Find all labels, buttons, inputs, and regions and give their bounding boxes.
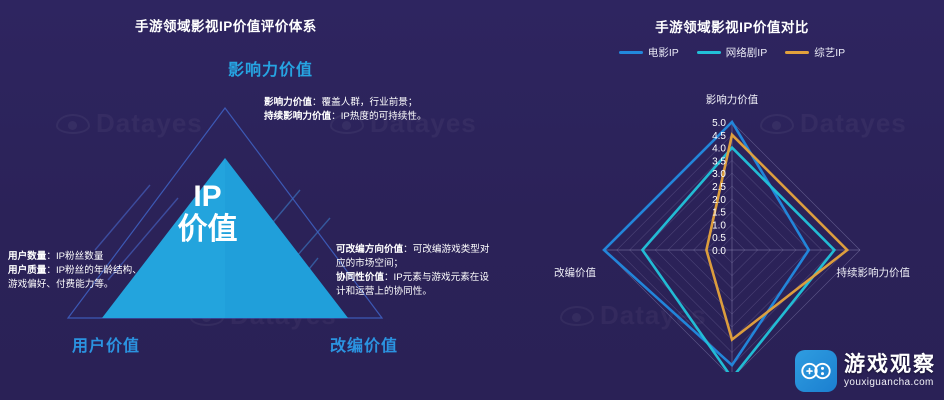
left-panel: 手游领域影视IP价值评价体系 IP 价值 xyxy=(0,0,520,400)
radial-tick-3.0: 3.0 xyxy=(712,169,726,180)
desc-text: ：IP粉丝数量 xyxy=(46,251,103,262)
radial-tick-4.0: 4.0 xyxy=(712,144,726,155)
description-line: 用户质量：IP粉丝的年龄结构、游戏偏好、付费能力等。 xyxy=(8,264,148,292)
description-influence: 影响力价值：覆盖人群，行业前景； 持续影响力价值：IP热度的可持续性。 xyxy=(264,96,427,124)
pyramid-center-label: IP 价值 xyxy=(150,182,265,246)
chart-legend: 电影IP网络剧IP综艺IP xyxy=(520,45,944,60)
description-adaptation: 可改编方向价值：可改编游戏类型对应的市场空间； 协同性价值：IP元素与游戏元素在… xyxy=(336,243,496,299)
brand-name-en: youxiguancha.com xyxy=(844,378,936,388)
desc-label: 用户质量 xyxy=(8,265,46,276)
right-panel: 手游领域影视IP价值对比 电影IP网络剧IP综艺IP 5.04.54.03.53… xyxy=(520,0,944,400)
left-panel-title: 手游领域影视IP价值评价体系 xyxy=(135,15,317,35)
legend-swatch xyxy=(619,51,643,54)
desc-label: 影响力价值 xyxy=(264,97,312,108)
gamepad-glyph xyxy=(801,362,831,380)
radar-chart-svg: 5.04.54.03.53.02.52.01.51.00.50.0 xyxy=(560,72,904,372)
pyramid-center-line2: 价值 xyxy=(150,214,265,246)
description-user: 用户数量：IP粉丝数量 用户质量：IP粉丝的年龄结构、游戏偏好、付费能力等。 xyxy=(8,250,148,292)
axis-label-sustained-influence: 持续影响力价值 xyxy=(837,265,911,280)
infographic-canvas: Datayes Datayes Datayes Datayes Datayes … xyxy=(0,0,944,400)
radial-tick-1.5: 1.5 xyxy=(712,208,726,219)
legend-label: 综艺IP xyxy=(814,45,845,60)
description-line: 协同性价值：IP元素与游戏元素在设计和运营上的协同性。 xyxy=(336,271,496,299)
series-2-综艺IP xyxy=(706,135,847,340)
series-0-电影IP xyxy=(604,122,809,365)
brand-text: 游戏观察 youxiguancha.com xyxy=(844,354,936,388)
desc-label: 协同性价值 xyxy=(336,272,384,283)
legend-item-1[interactable]: 网络剧IP xyxy=(697,45,767,60)
radial-tick-2.5: 2.5 xyxy=(712,182,726,193)
desc-label: 持续影响力价值 xyxy=(264,111,331,122)
description-line: 用户数量：IP粉丝数量 xyxy=(8,250,148,264)
radar-chart: 5.04.54.03.53.02.52.01.51.00.50.0 影响力价值 … xyxy=(560,72,904,372)
legend-label: 电影IP xyxy=(648,45,679,60)
chart-title: 手游领域影视IP价值对比 xyxy=(520,16,944,36)
radial-tick-labels: 5.04.54.03.53.02.52.01.51.00.50.0 xyxy=(712,118,726,257)
radial-tick-0.0: 0.0 xyxy=(712,246,726,257)
desc-text: ：覆盖人群，行业前景； xyxy=(312,97,418,108)
radial-tick-1.0: 1.0 xyxy=(712,220,726,231)
label-adaptation-value: 改编价值 xyxy=(330,332,398,356)
legend-swatch xyxy=(785,51,809,54)
radial-tick-3.5: 3.5 xyxy=(712,156,726,167)
axis-label-influence: 影响力价值 xyxy=(706,92,759,107)
desc-label: 可改编方向价值 xyxy=(336,244,403,255)
pyramid-center-line1: IP xyxy=(150,182,265,212)
gamepad-icon xyxy=(795,350,837,392)
legend-label: 网络剧IP xyxy=(726,45,767,60)
radial-tick-4.5: 4.5 xyxy=(712,131,726,142)
legend-item-0[interactable]: 电影IP xyxy=(619,45,679,60)
label-user-value: 用户价值 xyxy=(72,332,140,356)
description-line: 持续影响力价值：IP热度的可持续性。 xyxy=(264,110,427,124)
description-line: 影响力价值：覆盖人群，行业前景； xyxy=(264,96,427,110)
desc-text: ：IP热度的可持续性。 xyxy=(331,111,426,122)
brand-name-cn: 游戏观察 xyxy=(844,354,936,375)
brand-logo: 游戏观察 youxiguancha.com xyxy=(795,350,936,392)
radial-tick-2.0: 2.0 xyxy=(712,195,726,206)
legend-item-2[interactable]: 综艺IP xyxy=(785,45,845,60)
axis-label-adaptation: 改编价值 xyxy=(554,265,596,280)
desc-label: 用户数量 xyxy=(8,251,46,262)
legend-swatch xyxy=(697,51,721,54)
label-influence-value: 影响力价值 xyxy=(228,56,313,80)
radial-tick-5.0: 5.0 xyxy=(712,118,726,129)
description-line: 可改编方向价值：可改编游戏类型对应的市场空间； xyxy=(336,243,496,271)
radial-tick-0.5: 0.5 xyxy=(712,233,726,244)
